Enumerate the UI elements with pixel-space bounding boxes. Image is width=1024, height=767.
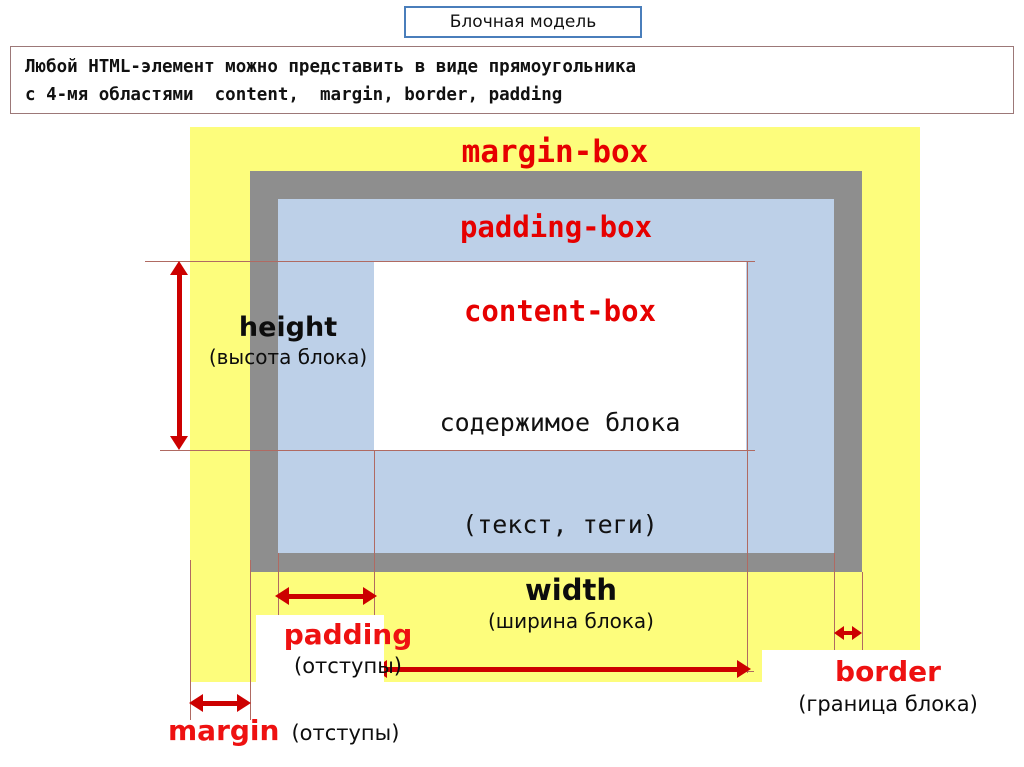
arrow-head-up-icon — [170, 261, 188, 275]
padding-box-label: padding-box — [278, 210, 834, 244]
margin-label: margin — [168, 715, 279, 747]
border-callout: border (граница блока) — [760, 655, 1016, 719]
height-sublabel: (высота блока) — [198, 343, 378, 371]
height-label: height — [198, 313, 378, 343]
content-description-line-1: содержимое блока — [374, 406, 746, 440]
border-dimension-arrow — [843, 631, 853, 635]
content-box-label: content-box — [374, 294, 746, 328]
border-label: border — [760, 655, 1016, 689]
margin-box-label: margin-box — [190, 134, 920, 170]
arrow-head-left-icon — [189, 694, 203, 712]
padding-dimension-arrow — [288, 594, 364, 599]
margin-dimension-arrow — [202, 701, 238, 706]
guide-line-padding-right — [834, 553, 835, 663]
guide-line-content-top — [145, 261, 755, 262]
width-dimension-arrow — [386, 667, 738, 672]
page-title: Блочная модель — [450, 12, 596, 32]
content-description-line-2: (текст, теги) — [374, 508, 746, 542]
arrow-head-right-icon — [852, 626, 862, 640]
padding-label: padding — [258, 619, 438, 651]
width-label: width — [406, 573, 736, 607]
content-box-description: содержимое блока (текст, теги) — [374, 338, 746, 576]
arrow-head-right-icon — [737, 660, 751, 678]
guide-line-content-right — [747, 261, 748, 673]
padding-callout: padding (отступы) — [258, 619, 438, 681]
margin-sublabel: (отступы) — [291, 717, 399, 749]
intro-line-2: с 4-мя областями content, margin, border… — [25, 81, 999, 109]
intro-text-box: Любой HTML-элемент можно представить в в… — [10, 46, 1014, 114]
margin-callout: margin (отступы) — [168, 715, 399, 749]
arrow-head-right-icon — [363, 587, 377, 605]
width-label-group: width (ширина блока) — [406, 573, 736, 635]
arrow-head-left-icon — [275, 587, 289, 605]
arrow-head-left-icon — [834, 626, 844, 640]
slide-title-box: Блочная модель — [404, 6, 642, 38]
arrow-head-right-icon — [237, 694, 251, 712]
height-label-group: height (высота блока) — [198, 313, 378, 371]
border-sublabel: (граница блока) — [760, 689, 1016, 719]
height-dimension-arrow — [177, 274, 182, 437]
padding-sublabel: (отступы) — [258, 651, 438, 681]
intro-line-1: Любой HTML-элемент можно представить в в… — [25, 53, 999, 81]
arrow-head-down-icon — [170, 436, 188, 450]
width-sublabel: (ширина блока) — [406, 607, 736, 635]
